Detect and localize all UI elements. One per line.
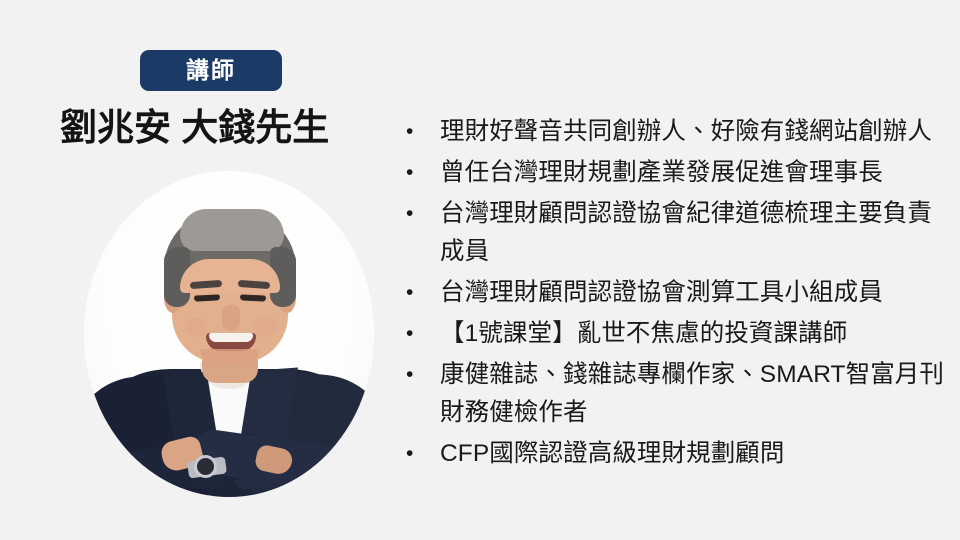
list-item: • 台灣理財顧問認證協會測算工具小組成員: [398, 274, 950, 312]
list-item-label: 台灣理財顧問認證協會測算工具小組成員: [440, 274, 950, 312]
chin-shadow-shape: [200, 349, 260, 365]
nose-shape: [222, 305, 240, 331]
bullet-icon: •: [398, 435, 440, 473]
list-item-label: 【1號課堂】亂世不焦慮的投資課講師: [440, 315, 950, 353]
list-item-label: 曾任台灣理財規劃產業發展促進會理事長: [440, 154, 950, 192]
credentials-list: • 理財好聲音共同創辦人、好險有錢網站創辦人 • 曾任台灣理財規劃產業發展促進會…: [398, 113, 950, 476]
list-item: • CFP國際認證高級理財規劃顧問: [398, 435, 950, 473]
list-item: • 台灣理財顧問認證協會紀律道德梳理主要負責成員: [398, 195, 950, 271]
role-badge-label: 講師: [186, 59, 236, 82]
list-item-label: 理財好聲音共同創辦人、好險有錢網站創辦人: [440, 113, 950, 151]
bullet-icon: •: [398, 356, 440, 394]
list-item: • 康健雜誌、錢雜誌專欄作家、SMART智富月刊財務健檢作者: [398, 356, 950, 432]
list-item: • 【1號課堂】亂世不焦慮的投資課講師: [398, 315, 950, 353]
list-item: • 曾任台灣理財規劃產業發展促進會理事長: [398, 154, 950, 192]
teeth-shape: [209, 333, 253, 342]
right-eye-shape: [240, 294, 266, 301]
left-cheek-shape: [184, 317, 208, 337]
bullet-icon: •: [398, 315, 440, 353]
speaker-portrait: [84, 171, 374, 497]
bullet-icon: •: [398, 274, 440, 312]
bullet-icon: •: [398, 113, 440, 151]
list-item: • 理財好聲音共同創辦人、好險有錢網站創辦人: [398, 113, 950, 151]
bullet-icon: •: [398, 154, 440, 192]
role-badge: 講師: [140, 50, 282, 91]
bullet-icon: •: [398, 195, 440, 233]
list-item-label: 台灣理財顧問認證協會紀律道德梳理主要負責成員: [440, 195, 950, 271]
speaker-profile-slide: 講師 劉兆安 大錢先生: [0, 0, 960, 540]
right-cheek-shape: [254, 317, 278, 337]
grey-hair-highlight-shape: [180, 209, 284, 251]
speaker-name: 劉兆安 大錢先生: [60, 106, 390, 150]
list-item-label: 康健雜誌、錢雜誌專欄作家、SMART智富月刊財務健檢作者: [440, 356, 950, 432]
portrait-illustration: [84, 171, 374, 497]
list-item-label: CFP國際認證高級理財規劃顧問: [440, 435, 950, 473]
speaker-left-column: 講師 劉兆安 大錢先生: [0, 0, 395, 540]
